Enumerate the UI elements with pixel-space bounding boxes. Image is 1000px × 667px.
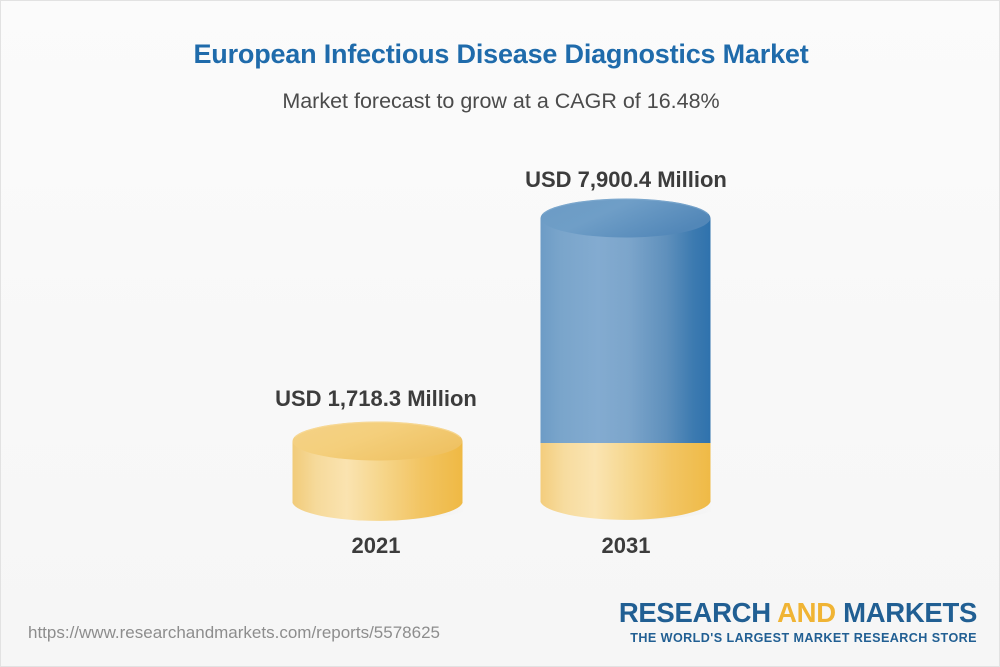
infographic-poster: European Infectious Disease Diagnostics …: [0, 0, 1000, 667]
bar-cylinder-2031: [540, 197, 711, 524]
logo-tagline: THE WORLD'S LARGEST MARKET RESEARCH STOR…: [619, 632, 977, 645]
logo-wordmark: RESEARCH AND MARKETS: [619, 599, 977, 627]
cylinder-body-2031: [541, 218, 711, 443]
report-url[interactable]: https://www.researchandmarkets.com/repor…: [28, 623, 440, 643]
bar-cylinder-2021: [292, 420, 463, 524]
category-label-2021: 2021: [256, 533, 496, 559]
bar-value-label-2021: USD 1,718.3 Million: [216, 386, 536, 412]
logo-word-markets: MARKETS: [843, 597, 977, 628]
cylinder-base-segment-2031: [541, 443, 711, 520]
logo-word-and: AND: [777, 597, 836, 628]
cylinder-bar-chart: USD 7,900.4 Million USD 1,718.3 Million: [1, 1, 1000, 601]
category-label-2031: 2031: [506, 533, 746, 559]
bar-value-label-2031: USD 7,900.4 Million: [466, 167, 786, 193]
research-and-markets-logo[interactable]: RESEARCH AND MARKETS THE WORLD'S LARGEST…: [619, 599, 977, 644]
logo-word-research: RESEARCH: [619, 597, 771, 628]
